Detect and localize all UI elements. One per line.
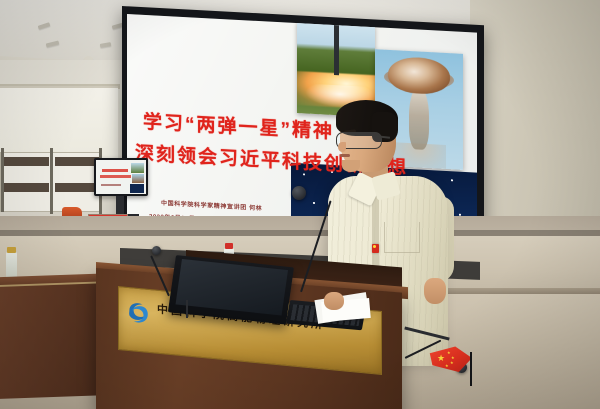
tv-title-line [102, 169, 128, 172]
board-post [1, 148, 4, 212]
cloud-cap [388, 56, 450, 95]
tv-subtitle-line [101, 184, 121, 186]
flag-star-small-4: ★ [445, 364, 449, 368]
flag-star-large: ★ [437, 354, 445, 363]
board-panel [3, 157, 49, 166]
bottle-cap-podium [225, 243, 233, 249]
rocket-body [334, 21, 339, 75]
tv-thumb-cloud [132, 174, 144, 183]
party-emblem-pin [372, 244, 379, 253]
board-post [50, 148, 53, 214]
board-panel [3, 183, 49, 192]
speaker-hand-left [324, 292, 344, 310]
tv-title-line-2 [100, 175, 131, 178]
wall-mounted-tv [94, 158, 148, 196]
tv-screen [96, 160, 146, 194]
speaker-chin [342, 160, 360, 172]
bottle-cap-left [7, 247, 16, 253]
board-panel [55, 157, 99, 166]
cloud-stem [409, 87, 429, 150]
display-board-1 [0, 152, 52, 212]
board-panel [55, 183, 99, 192]
speaker-nose [338, 142, 346, 152]
microphone-head-1 [292, 186, 306, 200]
tv-thumb-rocket [131, 163, 144, 173]
water-bottle-left [6, 252, 17, 278]
flag-star-small-3: ★ [450, 361, 454, 365]
lecture-hall-photo: 学习“两弹一星”精神 深刻领会习近平科技创新思想 中国科学院科学家精神宣讲团 何… [0, 0, 600, 409]
tv-thumb-space [130, 184, 144, 193]
speaker-mouth [340, 154, 350, 157]
cas-wave-logo [125, 298, 153, 329]
microphone-head-2 [152, 246, 161, 255]
shirt-pocket [384, 222, 420, 253]
speaker-hand-right [424, 278, 446, 304]
